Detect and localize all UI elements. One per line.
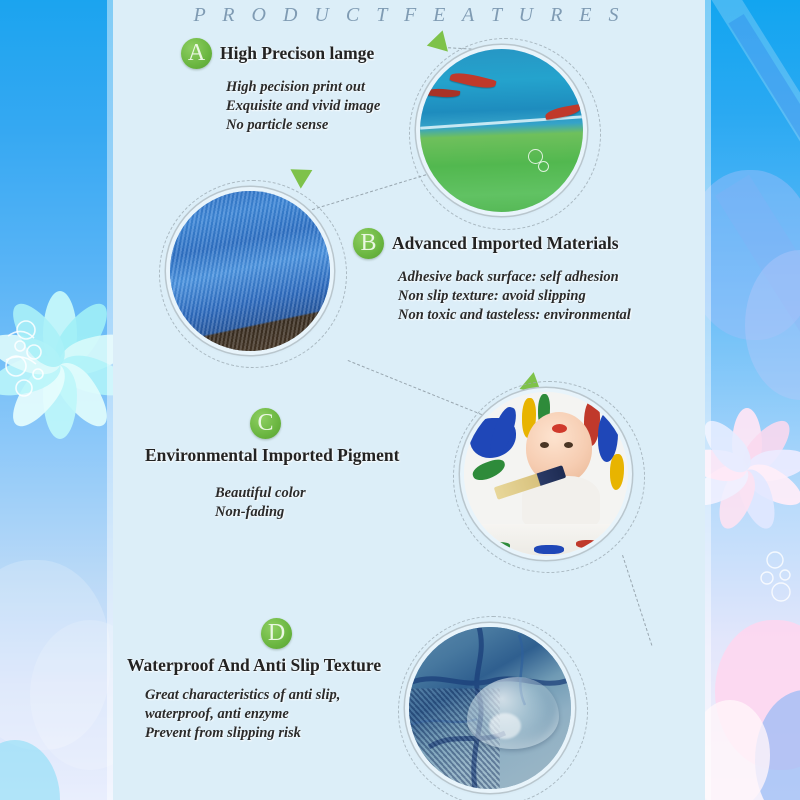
feature-b-line-1: Adhesive back surface: self adhesion <box>398 268 631 287</box>
feature-b-title: Advanced Imported Materials <box>392 233 619 254</box>
feature-d-lines: Great characteristics of anti slip, wate… <box>145 686 381 743</box>
flower-swirl-detail <box>705 0 800 800</box>
flower-swirl-detail <box>0 0 113 800</box>
feature-a-line-3: No particle sense <box>226 116 380 135</box>
right-panel-seam <box>705 0 711 800</box>
feature-badge-d: D <box>261 618 292 649</box>
fish-shape <box>449 70 496 92</box>
feature-a-line-1: High pecision print out <box>226 78 380 97</box>
feature-a-header: A High Precison lamge <box>181 38 380 69</box>
feature-c-title: Environmental Imported Pigment <box>145 445 399 466</box>
feature-b-line-3: Non toxic and tasteless: environmental <box>398 306 631 325</box>
feature-b-lines: Adhesive back surface: self adhesion Non… <box>398 268 631 325</box>
feature-badge-c: C <box>250 408 281 439</box>
arrow-marker-b <box>290 160 317 188</box>
feature-d-line-1: Great characteristics of anti slip, <box>145 686 381 705</box>
paint-splatter <box>576 540 600 548</box>
feature-d-header: D <box>261 618 381 649</box>
feature-a-title: High Precison lamge <box>220 43 374 64</box>
infographic-canvas: P R O D U C T F E A T U R E S A High Pre… <box>0 0 800 800</box>
feature-c-lines: Beautiful color Non-fading <box>215 484 399 522</box>
page-title: P R O D U C T F E A T U R E S <box>113 4 705 27</box>
left-decorative-border <box>0 0 113 800</box>
feature-b-line-2: Non slip texture: avoid slipping <box>398 287 631 306</box>
feature-d-line-2: waterproof, anti enzyme <box>145 705 381 724</box>
feature-d-title: Waterproof And Anti Slip Texture <box>127 655 381 676</box>
right-decorative-border <box>705 0 800 800</box>
droplet-highlight <box>489 713 521 739</box>
feature-b-header: B Advanced Imported Materials <box>353 228 631 259</box>
paint-dot-on-forehead <box>552 424 567 433</box>
feature-block-d: D Waterproof And Anti Slip Texture Great… <box>121 618 381 743</box>
feature-c-line-2: Non-fading <box>215 503 399 522</box>
water-droplet-on-textured-surface-photo <box>409 627 571 789</box>
feature-image-a <box>420 49 583 212</box>
feature-badge-b: B <box>353 228 384 259</box>
paint-splatter <box>534 545 564 554</box>
paint-splatter <box>484 542 510 550</box>
feature-image-c <box>464 392 628 556</box>
blue-ribbed-backing-material-photo <box>170 191 330 351</box>
feature-a-lines: High pecision print out Exquisite and vi… <box>226 78 380 135</box>
baby-eye <box>564 442 573 448</box>
bubble-shape <box>538 161 549 172</box>
connector-c-to-d <box>622 555 652 646</box>
feature-a-line-2: Exquisite and vivid image <box>226 97 380 116</box>
baby-with-paintbrush-photo <box>464 392 628 556</box>
feature-block-b: B Advanced Imported Materials Adhesive b… <box>353 228 631 325</box>
feature-image-b <box>170 191 330 351</box>
baby-eye <box>540 442 549 448</box>
features-panel: P R O D U C T F E A T U R E S A High Pre… <box>113 0 705 800</box>
printed-water-fish-grass-photo <box>420 49 583 212</box>
paint-splatter <box>610 454 624 490</box>
paint-splatter <box>470 457 507 484</box>
feature-badge-a: A <box>181 38 212 69</box>
feature-block-a: A High Precison lamge High pecision prin… <box>181 38 380 135</box>
fish-shape <box>426 87 461 99</box>
feature-block-c: C Environmental Imported Pigment Beautif… <box>145 408 399 522</box>
feature-d-line-3: Prevent from slipping risk <box>145 724 381 743</box>
feature-image-d <box>409 627 571 789</box>
feature-c-line-1: Beautiful color <box>215 484 399 503</box>
feature-c-header: C <box>250 408 399 439</box>
